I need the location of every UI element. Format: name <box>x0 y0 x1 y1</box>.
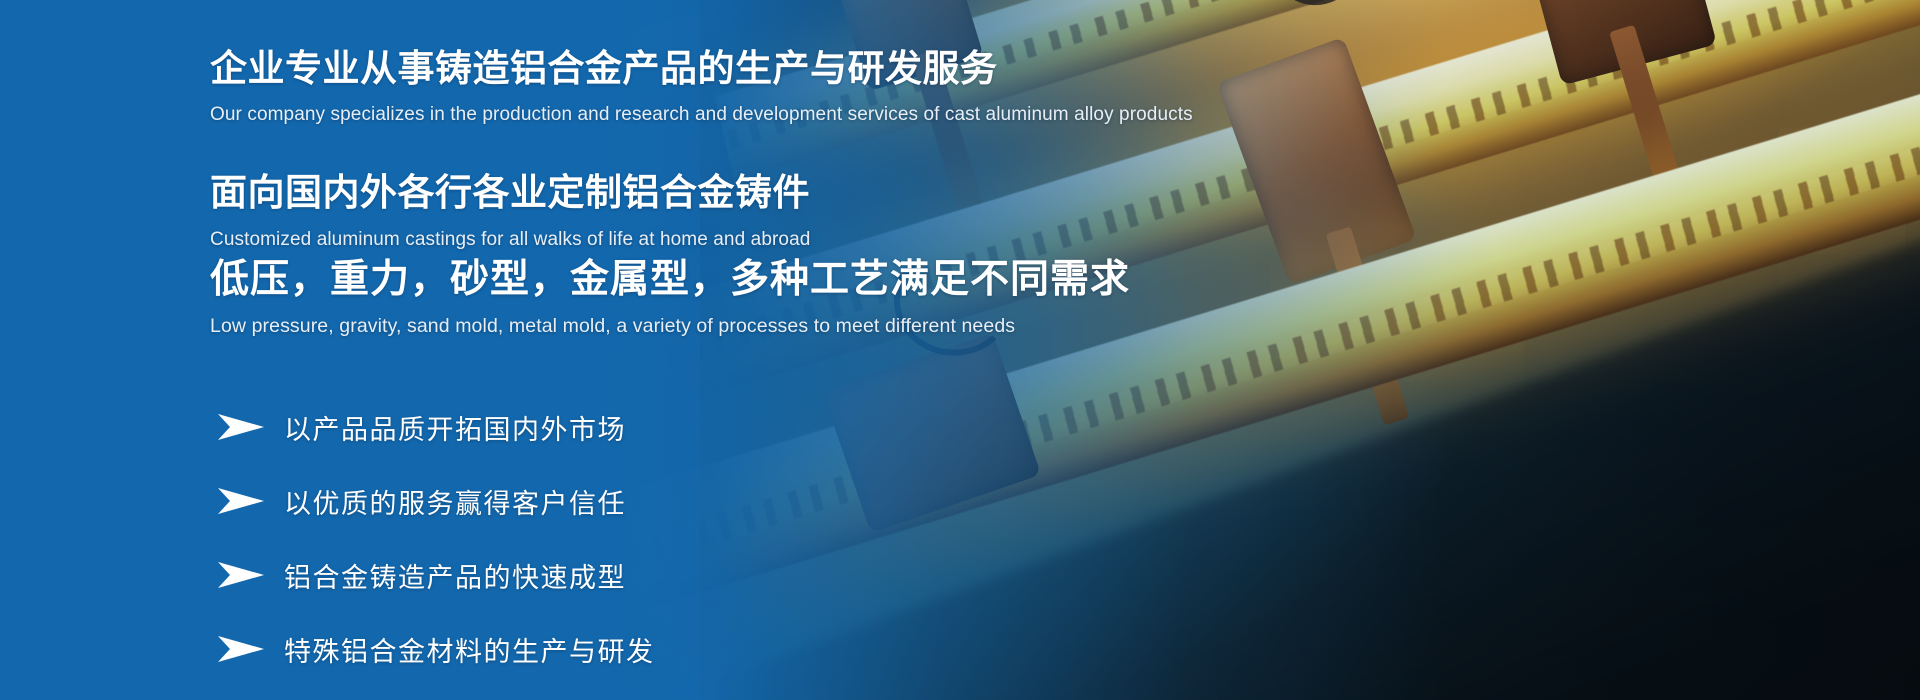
list-item-label: 以优质的服务赢得客户信任 <box>284 482 626 521</box>
list-item-label: 特殊铝合金材料的生产与研发 <box>284 630 655 669</box>
list-item: 特殊铝合金材料的生产与研发 <box>218 612 655 686</box>
promo-banner: 企业专业从事铸造铝合金产品的生产与研发服务 Our company specia… <box>0 0 1920 700</box>
headline-3-cn: 低压，重力，砂型，金属型，多种工艺满足不同需求 <box>210 258 1130 303</box>
arrow-right-icon <box>218 560 264 590</box>
banner-content: 企业专业从事铸造铝合金产品的生产与研发服务 Our company specia… <box>210 0 1410 700</box>
headline-3-en: Low pressure, gravity, sand mold, metal … <box>210 315 1130 338</box>
headline-block-1: 企业专业从事铸造铝合金产品的生产与研发服务 Our company specia… <box>210 48 1193 126</box>
list-item-label: 铝合金铸造产品的快速成型 <box>284 556 626 595</box>
list-item: 以优质的服务赢得客户信任 <box>218 464 655 538</box>
headline-2-cn: 面向国内外各行各业定制铝合金铸件 <box>210 172 810 215</box>
arrow-right-icon <box>218 634 264 664</box>
headline-1-cn: 企业专业从事铸造铝合金产品的生产与研发服务 <box>210 48 1193 91</box>
list-item: 铝合金铸造产品的快速成型 <box>218 538 655 612</box>
arrow-right-icon <box>218 486 264 516</box>
headline-block-3: 低压，重力，砂型，金属型，多种工艺满足不同需求 Low pressure, gr… <box>210 258 1130 338</box>
arrow-right-icon <box>218 412 264 442</box>
list-item: 以产品品质开拓国内外市场 <box>218 390 655 464</box>
list-item-label: 以产品品质开拓国内外市场 <box>284 408 626 447</box>
feature-list: 以产品品质开拓国内外市场 以优质的服务赢得客户信任 铝合金铸造产品的快速成型 特… <box>218 390 655 686</box>
headline-2-en: Customized aluminum castings for all wal… <box>210 229 810 252</box>
headline-1-en: Our company specializes in the productio… <box>210 104 1193 127</box>
headline-block-2: 面向国内外各行各业定制铝合金铸件 Customized aluminum cas… <box>210 172 810 251</box>
